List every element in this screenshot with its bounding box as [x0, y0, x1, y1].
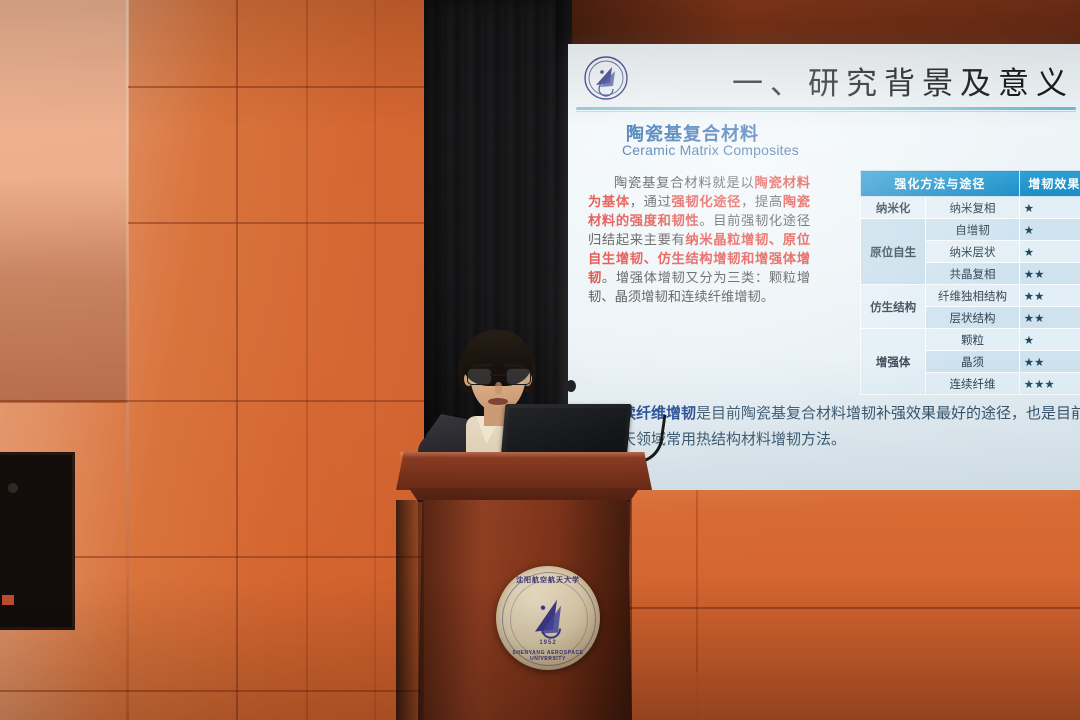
- table-row: 原位自生自增韧★: [861, 219, 1080, 241]
- wall-seam: [306, 0, 308, 720]
- table-cell-method: 纳米层状: [926, 241, 1020, 263]
- table-header-methods: 强化方法与途径: [861, 171, 1020, 197]
- table-cell-method: 晶须: [926, 351, 1020, 373]
- wall-seam: [236, 0, 238, 720]
- photo-scene: 一、研究背景及意义 陶瓷基复合材料 Ceramic Matrix Composi…: [0, 0, 1080, 720]
- table-cell-method: 共晶复相: [926, 263, 1020, 285]
- table-cell-rating: ★: [1019, 329, 1080, 351]
- slide-subtitle-en: Ceramic Matrix Composites: [622, 142, 799, 158]
- table-cell-group: 纳米化: [861, 197, 926, 219]
- wall-seam: [374, 0, 376, 720]
- table-cell-group: 增强体: [861, 329, 926, 395]
- podium-top-highlight: [400, 452, 648, 458]
- wall-seam: [128, 86, 430, 88]
- table-header-effect: 增韧效果: [1019, 171, 1080, 197]
- table-row: 仿生结构纤维独相结构★★: [861, 285, 1080, 307]
- table-cell-rating: ★★: [1019, 307, 1080, 329]
- wall-seam: [600, 607, 1080, 609]
- table-body: 纳米化纳米复相★原位自生自增韧★纳米层状★共晶复相★★仿生结构纤维独相结构★★层…: [861, 197, 1080, 395]
- window-red-light: [2, 595, 14, 605]
- nose: [495, 382, 502, 394]
- wall-seam: [0, 400, 430, 402]
- table-header-row: 强化方法与途径 增韧效果: [861, 171, 1080, 197]
- table-cell-group: 原位自生: [861, 219, 926, 285]
- wall-base-band: [600, 672, 1080, 720]
- slide-paragraph: 陶瓷基复合材料就是以陶瓷材料为基体，通过强韧化途径，提高陶瓷材料的强度和韧性。目…: [588, 174, 810, 307]
- table-cell-group: 仿生结构: [861, 285, 926, 329]
- table-row: 增强体颗粒★: [861, 329, 1080, 351]
- header-divider: [576, 107, 1076, 110]
- podium-left-shadow: [396, 500, 424, 720]
- table-cell-method: 层状结构: [926, 307, 1020, 329]
- glasses-bridge: [490, 374, 506, 376]
- header-divider-thin: [576, 111, 1076, 112]
- table-cell-rating: ★★: [1019, 351, 1080, 373]
- university-logo-icon: [582, 54, 630, 102]
- table-cell-method: 颗粒: [926, 329, 1020, 351]
- table-cell-method: 连续纤维: [926, 373, 1020, 395]
- toughening-methods-table: 强化方法与途径 增韧效果 纳米化纳米复相★原位自生自增韧★纳米层状★共晶复相★★…: [860, 170, 1080, 395]
- wall-seam: [128, 222, 430, 224]
- lens-left: [467, 368, 492, 385]
- table-cell-rating: ★★: [1019, 285, 1080, 307]
- upper-wall-band-shade: [560, 0, 1080, 46]
- window-glint: [8, 483, 18, 493]
- podium-university-seal: 沈阳航空航天大学 1952 SHENYANG AEROSPACE UNIVERS…: [496, 566, 600, 670]
- table-cell-method: 纳米复相: [926, 197, 1020, 219]
- slide-conclusion: 连续纤维增韧是目前陶瓷基复合材料增韧补强效果最好的途径，也是目前航空航天领域常用…: [606, 400, 1080, 452]
- seal-text-en: SHENYANG AEROSPACE UNIVERSITY: [496, 650, 600, 662]
- seal-text-cn: 沈阳航空航天大学: [496, 575, 600, 585]
- seal-founding-year: 1952: [496, 640, 600, 646]
- lens-right: [506, 368, 531, 385]
- table-cell-rating: ★: [1019, 197, 1080, 219]
- laptop-screen: [505, 408, 627, 455]
- slide-title: 一、研究背景及意义: [732, 58, 1074, 103]
- table-cell-method: 纤维独相结构: [926, 285, 1020, 307]
- wall-shadow: [0, 178, 128, 403]
- microphone-head-icon: [566, 380, 576, 392]
- table-row: 纳米化纳米复相★: [861, 197, 1080, 219]
- table-cell-rating: ★★★: [1019, 373, 1080, 395]
- wall-recess-window: [0, 452, 75, 630]
- table-cell-rating: ★: [1019, 241, 1080, 263]
- wall-corner-edge: [126, 0, 129, 720]
- wall-seam: [0, 690, 430, 692]
- table-cell-rating: ★★: [1019, 263, 1080, 285]
- table-cell-method: 自增韧: [926, 219, 1020, 241]
- table-cell-rating: ★: [1019, 219, 1080, 241]
